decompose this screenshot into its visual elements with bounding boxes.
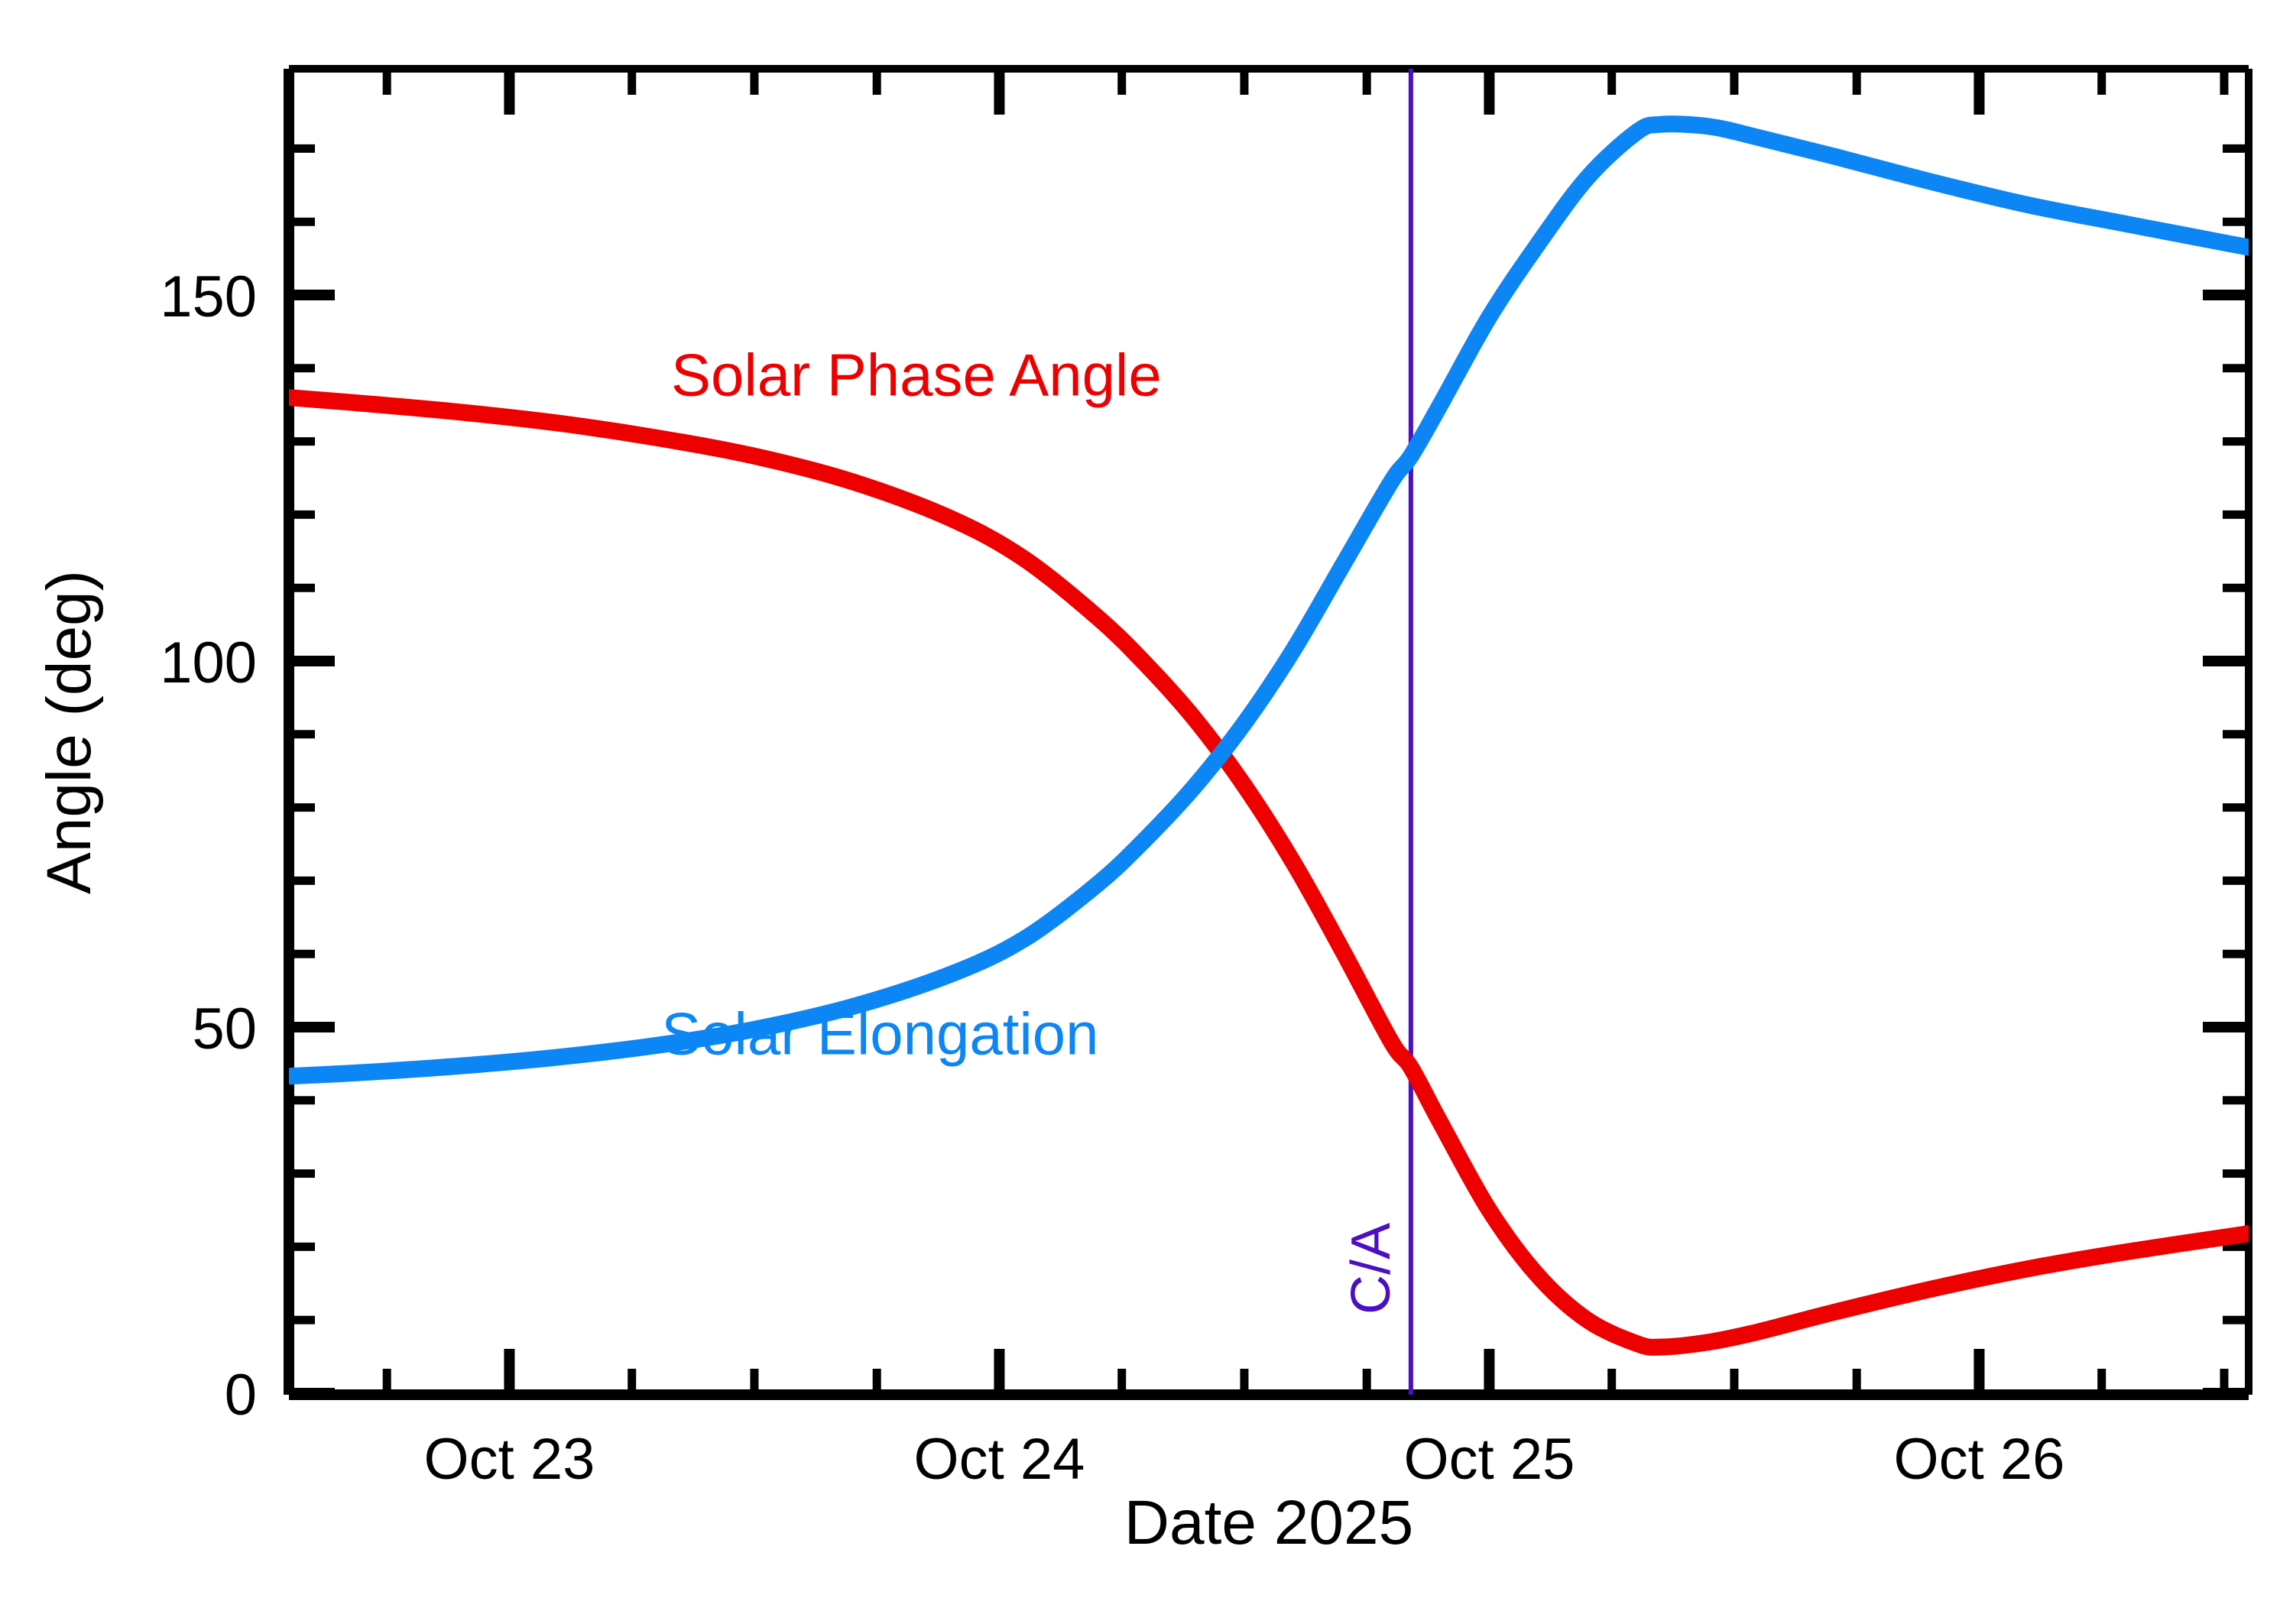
- series-label-solar-elongation: Solar Elongation: [661, 1000, 1098, 1068]
- solar-phase-angle-elongation-chart: 050100150 Oct 23Oct 24Oct 25Oct 26 C/A S…: [0, 0, 2293, 1624]
- y-tick-label: 150: [160, 264, 257, 329]
- y-axis-title: Angle (deg): [34, 570, 104, 894]
- x-axis-title: Date 2025: [1124, 1488, 1413, 1558]
- x-tick-label: Oct 24: [914, 1427, 1085, 1492]
- series-label-solar-phase-angle: Solar Phase Angle: [671, 341, 1162, 408]
- x-tick-label: Oct 23: [424, 1427, 595, 1492]
- y-tick-label: 50: [192, 997, 257, 1062]
- closest-approach-label: C/A: [1341, 1223, 1402, 1314]
- chart-background: [0, 0, 2293, 1624]
- x-tick-label: Oct 26: [1894, 1427, 2065, 1492]
- y-tick-label: 100: [160, 630, 257, 695]
- x-tick-label: Oct 25: [1404, 1427, 1575, 1492]
- chart-page: 050100150 Oct 23Oct 24Oct 25Oct 26 C/A S…: [0, 0, 2293, 1624]
- y-tick-label: 0: [225, 1363, 257, 1428]
